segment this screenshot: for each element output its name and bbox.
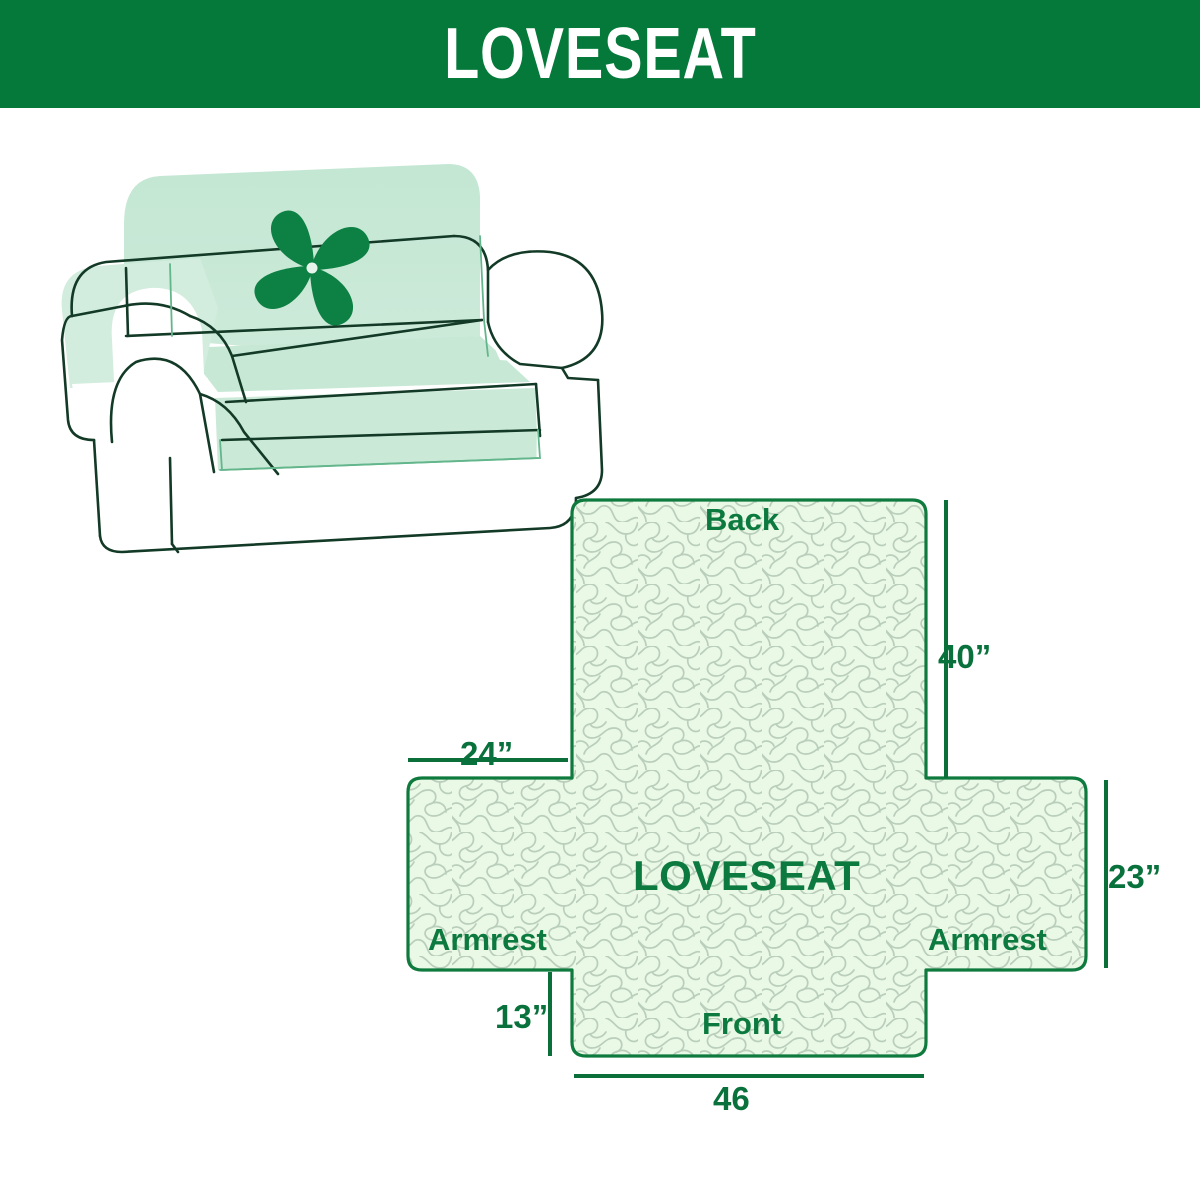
cover-layout-svg (390, 460, 1190, 1160)
page-root: LOVESEAT (0, 0, 1200, 1200)
panel-label-back: Back (705, 502, 779, 538)
dimension-label-armrest-depth: 23” (1108, 858, 1161, 896)
dimension-label-back-width: 24” (460, 735, 513, 773)
loveseat-cover-diagram (390, 460, 1190, 1160)
dimension-label-front-height: 13” (495, 998, 548, 1036)
page-title: LOVESEAT (444, 18, 757, 90)
cover-cross-path (408, 500, 1086, 1056)
diagram-center-label: LOVESEAT (633, 852, 860, 900)
header-banner: LOVESEAT (0, 0, 1200, 108)
cover-cross-shape (408, 500, 1086, 1056)
panel-label-front: Front (702, 1006, 781, 1042)
dimension-label-total-width: 46 (713, 1080, 750, 1118)
panel-label-armrest-right: Armrest (928, 922, 1047, 958)
panel-label-armrest-left: Armrest (428, 922, 547, 958)
dimension-label-back-height: 40” (938, 638, 991, 676)
